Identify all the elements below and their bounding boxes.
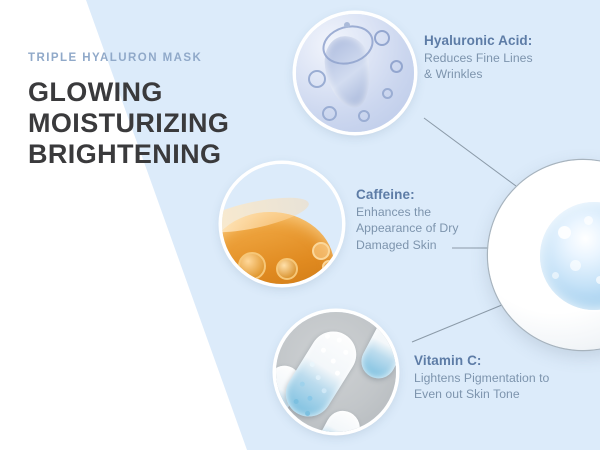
ingredient-image-vitamin-c bbox=[276, 312, 396, 432]
product-jar bbox=[488, 160, 600, 350]
ingredient-name-caffeine: Caffeine: bbox=[356, 186, 458, 203]
callout-caffeine: Caffeine: Enhances the Appearance of Dry… bbox=[356, 186, 458, 253]
headline-line-1: GLOWING bbox=[28, 77, 258, 108]
ingredient-image-hyaluronic-acid bbox=[296, 14, 414, 132]
ingredient-desc-caffeine: Enhances the Appearance of Dry Damaged S… bbox=[356, 204, 458, 253]
callout-hyaluronic-acid: Hyaluronic Acid: Reduces Fine Lines & Wr… bbox=[424, 32, 533, 83]
connector-vitamin-c bbox=[412, 300, 514, 342]
headline-line-3: BRIGHTENING bbox=[28, 139, 258, 170]
eyebrow-text: TRIPLE HYALURON MASK bbox=[28, 52, 258, 64]
ingredient-name-vitamin-c: Vitamin C: bbox=[414, 352, 549, 369]
infographic-canvas: TRIPLE HYALURON MASK GLOWING MOISTURIZIN… bbox=[0, 0, 600, 450]
brand-copy-block: TRIPLE HYALURON MASK GLOWING MOISTURIZIN… bbox=[28, 52, 258, 170]
headline-line-2: MOISTURIZING bbox=[28, 108, 258, 139]
ingredient-image-caffeine bbox=[222, 164, 342, 284]
callout-vitamin-c: Vitamin C: Lightens Pigmentation to Even… bbox=[414, 352, 549, 403]
jar-gel-center bbox=[540, 202, 600, 310]
ingredient-desc-hyaluronic-acid: Reduces Fine Lines & Wrinkles bbox=[424, 50, 533, 83]
connector-hyaluronic-acid bbox=[424, 118, 516, 186]
ingredient-name-hyaluronic-acid: Hyaluronic Acid: bbox=[424, 32, 533, 49]
ingredient-desc-vitamin-c: Lightens Pigmentation to Even out Skin T… bbox=[414, 370, 549, 403]
page-title: GLOWING MOISTURIZING BRIGHTENING bbox=[28, 77, 258, 170]
